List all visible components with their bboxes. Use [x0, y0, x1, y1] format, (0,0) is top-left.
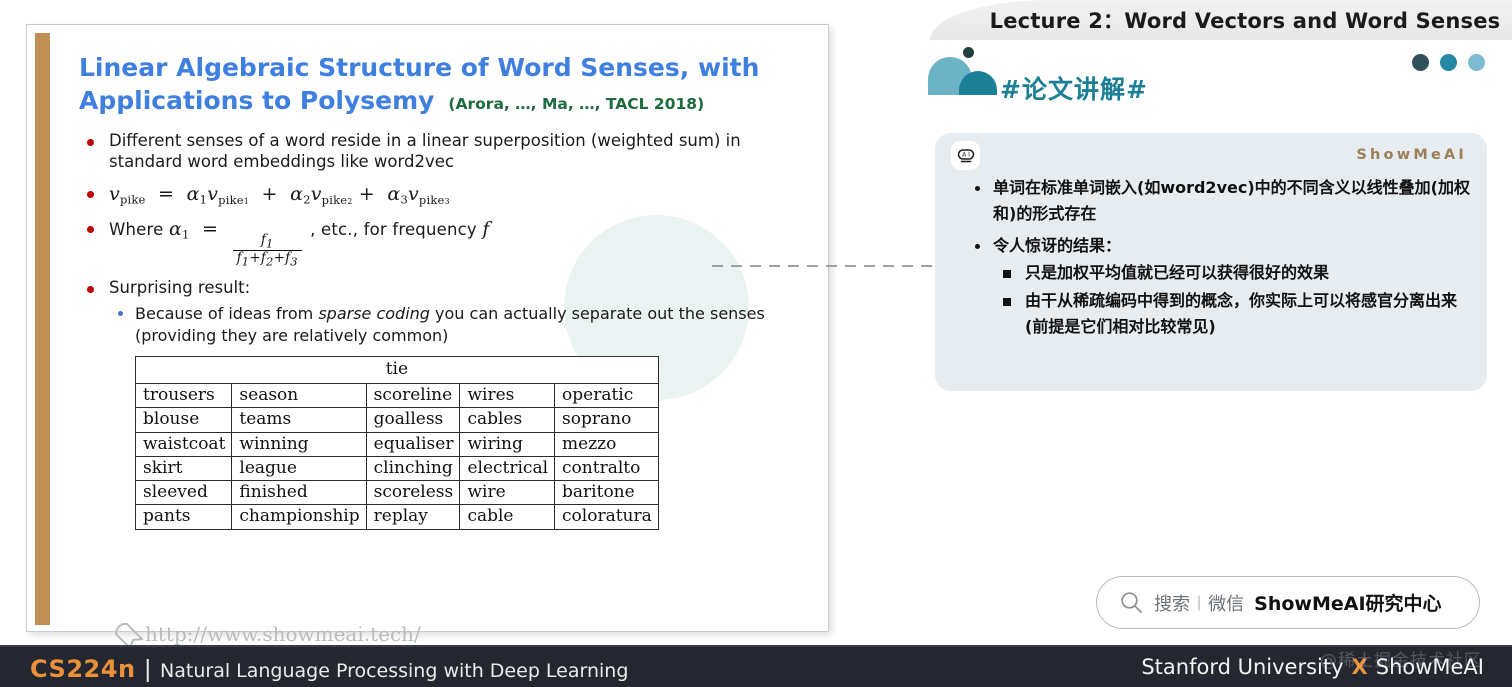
note-card-body: 单词在标准单词嵌入(如word2vec)中的不同含义以线性叠加(加权和)的形式存… — [953, 175, 1473, 345]
lecture-title: Lecture 2：Word Vectors and Word Senses — [985, 5, 1505, 35]
table-cell: wiring — [460, 432, 555, 456]
table-cell: teams — [232, 408, 366, 432]
footer-bar: CS224n | Natural Language Processing wit… — [0, 645, 1512, 687]
table-cell: baritone — [555, 481, 659, 505]
table-cell: scoreless — [366, 481, 460, 505]
slide-title-line1: Linear Algebraic Structure of Word Sense… — [79, 51, 769, 84]
note-card-brand: ShowMeAI — [1356, 147, 1467, 163]
table-cell: replay — [366, 505, 460, 529]
bullet-item-4: Surprising result: Because of ideas from… — [79, 277, 819, 345]
slide-title-row2: Applications to Polysemy (Arora, …, Ma, … — [79, 84, 819, 117]
sub-bullet-list: Because of ideas from sparse coding you … — [109, 303, 819, 346]
note-bullet-list: 单词在标准单词嵌入(如word2vec)中的不同含义以线性叠加(加权和)的形式存… — [953, 175, 1473, 339]
table-row: sleevedfinishedscorelesswirebaritone — [136, 481, 659, 505]
table-cell: cables — [460, 408, 555, 432]
note-sub-bullet-list: 只是加权平均值就已经可以获得很好的效果 由干从稀疏编码中得到的概念，你实际上可以… — [993, 260, 1473, 340]
page-canvas: Lecture 2：Word Vectors and Word Senses #… — [0, 0, 1512, 687]
table-header-cell: tie — [136, 356, 659, 383]
table-cell: equaliser — [366, 432, 460, 456]
table-cell: wire — [460, 481, 555, 505]
table-cell: mezzo — [555, 432, 659, 456]
university-name: Stanford University — [1141, 655, 1343, 679]
note-bullet-item-1: 单词在标准单词嵌入(如word2vec)中的不同含义以线性叠加(加权和)的形式存… — [953, 175, 1473, 227]
table-cell: championship — [232, 505, 366, 529]
footer-watermark: @稀土掘金技术社区 — [1320, 646, 1482, 671]
table-cell: operatic — [555, 384, 659, 408]
word-senses-table: tie trousersseasonscorelinewiresoperatic… — [135, 356, 659, 530]
table-body: trousersseasonscorelinewiresoperaticblou… — [136, 384, 659, 530]
formula-vpike: vpike = α1vpike1 + α2vpike2 + α3vpike3 — [109, 183, 450, 205]
footer-left-group: CS224n | Natural Language Processing wit… — [30, 655, 628, 684]
table-row: blouseteamsgoallesscablessoprano — [136, 408, 659, 432]
sub-bullet-item-1: Because of ideas from sparse coding you … — [109, 303, 819, 346]
slide-bullet-list: Different senses of a word reside in a l… — [79, 130, 819, 346]
slide-container: Linear Algebraic Structure of Word Sense… — [26, 24, 829, 632]
search-channel: 微信 — [1208, 590, 1244, 616]
bullet-item-4-label: Surprising result: — [109, 278, 250, 297]
bullet-item-1: Different senses of a word reside in a l… — [79, 130, 819, 174]
sub-bullet-text-italic: sparse coding — [318, 304, 430, 323]
table-cell: electrical — [460, 456, 555, 480]
decorative-dots — [1412, 54, 1485, 71]
table-cell: contralto — [555, 456, 659, 480]
table-row: skirtleagueclinchingelectricalcontralto — [136, 456, 659, 480]
table-cell: season — [232, 384, 366, 408]
slide-title-line2: Applications to Polysemy — [79, 84, 434, 117]
search-label: 搜索 — [1154, 590, 1190, 616]
table-header-row: tie — [136, 356, 659, 383]
svg-text:A I: A I — [962, 151, 970, 158]
table-cell: league — [232, 456, 366, 480]
table-row: trousersseasonscorelinewiresoperatic — [136, 384, 659, 408]
table-row: pantschampionshipreplaycablecoloratura — [136, 505, 659, 529]
table-cell: pants — [136, 505, 232, 529]
section-hashtag: #论文讲解# — [1000, 70, 1148, 106]
table-cell: sleeved — [136, 481, 232, 505]
note-sub-bullet-item-2: 由干从稀疏编码中得到的概念，你实际上可以将感官分离出来(前提是它们相对比较常见) — [993, 288, 1473, 340]
table-cell: waistcoat — [136, 432, 232, 456]
bullet-item-2-formula: vpike = α1vpike1 + α2vpike2 + α3vpike3 — [79, 182, 819, 208]
course-code: CS224n — [30, 655, 136, 683]
translation-note-card: A I ShowMeAI 单词在标准单词嵌入(如word2vec)中的不同含义以… — [935, 133, 1487, 391]
table-cell: soprano — [555, 408, 659, 432]
formula-alpha-fraction: Where α1 = f1 f1+f2+f3 , etc., for frequ… — [109, 218, 490, 240]
footer-separator: | — [145, 655, 152, 684]
table-row: waistcoatwinningequaliserwiringmezzo — [136, 432, 659, 456]
table-cell: goalless — [366, 408, 460, 432]
dashed-connector — [712, 265, 942, 267]
search-brand: ShowMeAI研究中心 — [1254, 589, 1441, 616]
decor-dot-2 — [1440, 54, 1457, 71]
search-box[interactable]: 搜索 | 微信 ShowMeAI研究中心 — [1096, 576, 1480, 629]
table-cell: cable — [460, 505, 555, 529]
table-cell: finished — [232, 481, 366, 505]
slide-watermark: http://www.showmeai.tech/ — [145, 622, 421, 646]
table-cell: wires — [460, 384, 555, 408]
table-cell: clinching — [366, 456, 460, 480]
table-cell: winning — [232, 432, 366, 456]
table-cell: blouse — [136, 408, 232, 432]
note-bullet-item-2-label: 令人惊讶的结果： — [993, 236, 1121, 255]
slide-accent-bar — [35, 33, 50, 625]
course-name: Natural Language Processing with Deep Le… — [160, 660, 628, 682]
table-cell: trousers — [136, 384, 232, 408]
slide-citation: (Arora, …, Ma, …, TACL 2018) — [448, 95, 704, 113]
table-cell: skirt — [136, 456, 232, 480]
search-icon — [1119, 590, 1144, 615]
slide-content: Linear Algebraic Structure of Word Sense… — [79, 51, 819, 530]
sub-bullet-text-pre: Because of ideas from — [135, 304, 318, 323]
shape-dome-icon — [959, 71, 997, 95]
ai-robot-icon: A I — [951, 141, 980, 170]
table-cell: scoreline — [366, 384, 460, 408]
table-header: tie — [136, 356, 659, 383]
decor-dot-1 — [1412, 54, 1429, 71]
search-divider: | — [1197, 594, 1201, 612]
shape-dot-icon — [963, 47, 974, 58]
bullet-item-3-formula: Where α1 = f1 f1+f2+f3 , etc., for frequ… — [79, 217, 819, 268]
decor-dot-3 — [1468, 54, 1485, 71]
table-cell: coloratura — [555, 505, 659, 529]
note-sub-bullet-item-1: 只是加权平均值就已经可以获得很好的效果 — [993, 260, 1473, 286]
brand-shapes-icon — [928, 47, 998, 95]
note-bullet-item-2: 令人惊讶的结果： 只是加权平均值就已经可以获得很好的效果 由干从稀疏编码中得到的… — [953, 233, 1473, 340]
